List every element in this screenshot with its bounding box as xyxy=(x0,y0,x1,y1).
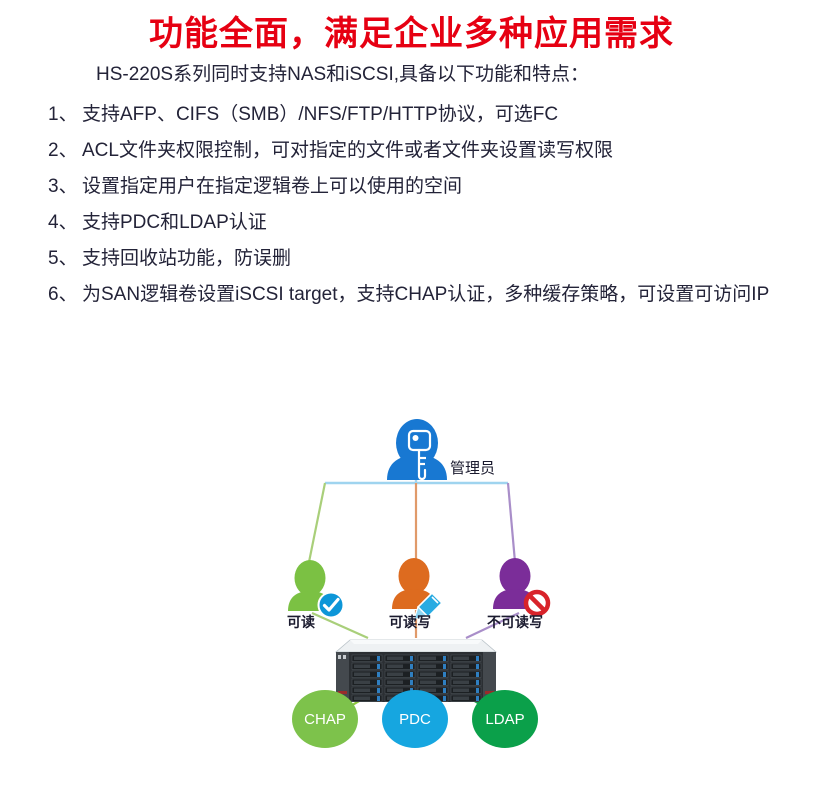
connector-group-admin-to-users xyxy=(309,477,515,562)
list-item-text: 支持AFP、CIFS（SMB）/NFS/FTP/HTTP协议，可选FC xyxy=(82,98,798,131)
user-node-readwrite[interactable]: 可读写 xyxy=(389,558,442,630)
service-node-chap[interactable]: CHAP xyxy=(292,690,358,748)
chap-label: CHAP xyxy=(304,711,346,728)
list-item: 2、 ACL文件夹权限控制，可对指定的文件或者文件夹设置读写权限 xyxy=(48,134,798,167)
list-item-text: 支持回收站功能，防误删 xyxy=(82,242,798,275)
list-item-number: 6、 xyxy=(48,278,82,311)
check-badge-icon xyxy=(319,593,344,618)
user-noaccess-label: 不可读写 xyxy=(487,614,543,630)
list-item-number: 4、 xyxy=(48,206,82,239)
list-item-text: 设置指定用户在指定逻辑卷上可以使用的空间 xyxy=(82,170,798,203)
prohibition-badge-icon xyxy=(525,591,550,616)
person-with-key-icon xyxy=(387,419,447,480)
user-read-label: 可读 xyxy=(287,614,315,630)
list-item: 5、 支持回收站功能，防误删 xyxy=(48,242,798,275)
service-node-ldap[interactable]: LDAP xyxy=(472,690,538,748)
page-title: 功能全面，满足企业多种应用需求 xyxy=(0,12,823,56)
connector-read-to-storage xyxy=(312,613,368,638)
list-item-number: 2、 xyxy=(48,134,82,167)
list-item-text: 支持PDC和LDAP认证 xyxy=(82,206,798,239)
admin-label: 管理员 xyxy=(450,460,495,477)
service-node-pdc[interactable]: PDC xyxy=(382,690,448,748)
user-node-read[interactable]: 可读 xyxy=(287,560,344,630)
person-blocked-icon xyxy=(493,558,550,616)
list-item: 1、 支持AFP、CIFS（SMB）/NFS/FTP/HTTP协议，可选FC xyxy=(48,98,798,131)
pdc-label: PDC xyxy=(399,711,431,728)
list-item-text: 为SAN逻辑卷设置iSCSI target，支持CHAP认证，多种缓存策略，可设… xyxy=(82,278,798,311)
person-check-icon xyxy=(288,560,344,618)
person-pencil-icon xyxy=(392,558,442,619)
list-item-text: ACL文件夹权限控制，可对指定的文件或者文件夹设置读写权限 xyxy=(82,134,798,167)
ldap-label: LDAP xyxy=(485,711,524,728)
list-item: 3、 设置指定用户在指定逻辑卷上可以使用的空间 xyxy=(48,170,798,203)
admin-node[interactable]: 管理员 xyxy=(387,419,495,480)
feature-list: 1、 支持AFP、CIFS（SMB）/NFS/FTP/HTTP协议，可选FC 2… xyxy=(48,98,798,314)
list-item-number: 5、 xyxy=(48,242,82,275)
list-item-number: 1、 xyxy=(48,98,82,131)
user-readwrite-label: 可读写 xyxy=(389,614,431,630)
permission-architecture-diagram: 管理员 可读 可读写 xyxy=(0,400,823,785)
connector-admin-to-read xyxy=(309,483,325,562)
connector-admin-to-noaccess xyxy=(508,483,515,562)
list-item: 6、 为SAN逻辑卷设置iSCSI target，支持CHAP认证，多种缓存策略… xyxy=(48,278,798,311)
list-item-number: 3、 xyxy=(48,170,82,203)
page-subtitle: HS-220S系列同时支持NAS和iSCSI,具备以下功能和特点： xyxy=(96,61,589,89)
user-node-noaccess[interactable]: 不可读写 xyxy=(487,558,550,630)
list-item: 4、 支持PDC和LDAP认证 xyxy=(48,206,798,239)
